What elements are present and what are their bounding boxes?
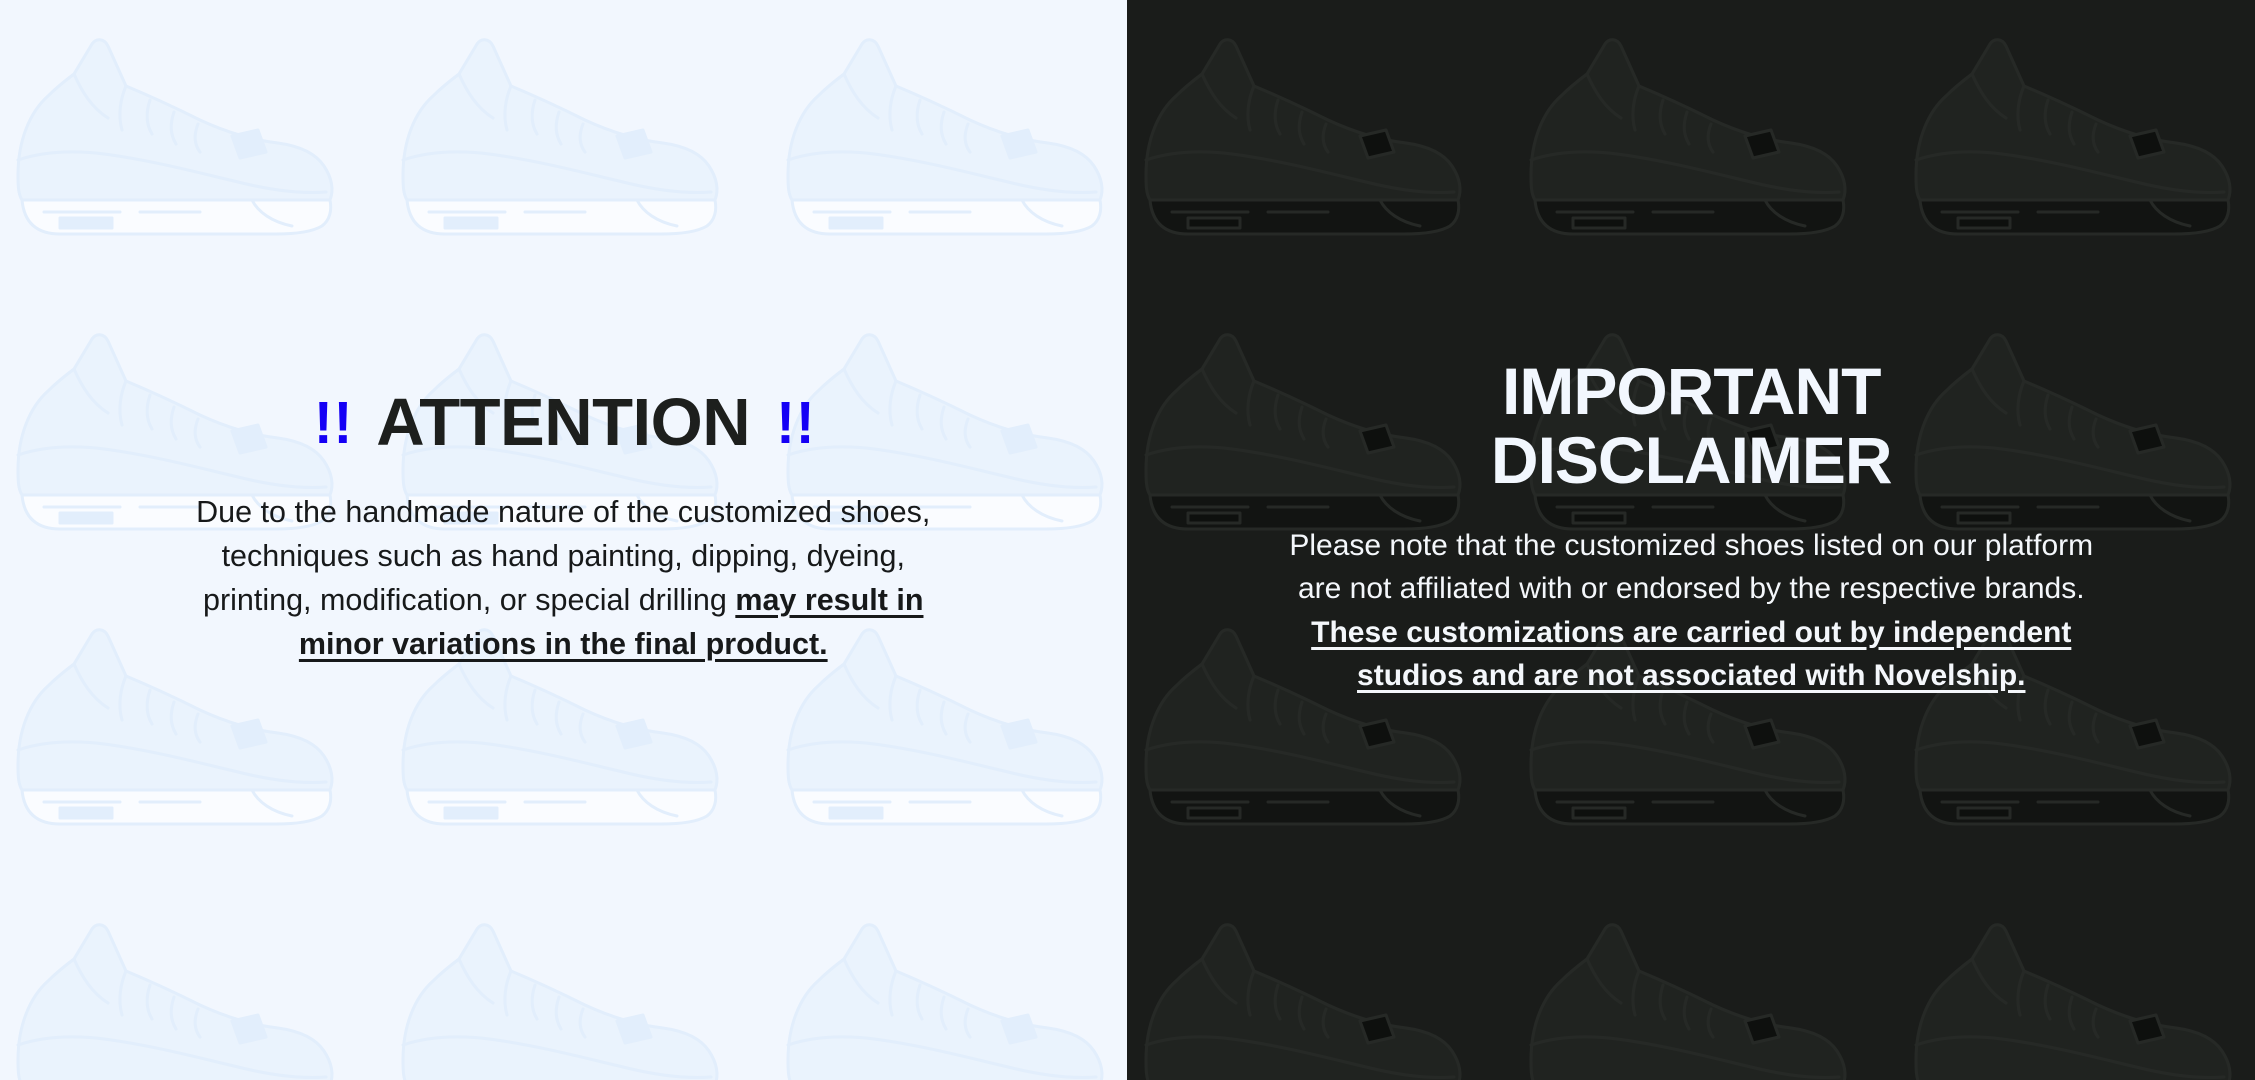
attention-headline: !! ATTENTION !! [110,389,1017,457]
attention-headline-text: ATTENTION [376,389,750,457]
attention-body: Due to the handmade nature of the custom… [163,491,963,667]
disclaimer-headline-line-1: IMPORTANT [1502,354,1880,428]
disclaimer-headline: IMPORTANT DISCLAIMER [1238,357,2146,494]
double-exclamation-left-icon: !! [314,395,350,451]
disclaimer-body-emphasis: These customizations are carried out by … [1311,616,2071,692]
double-exclamation-right-icon: !! [776,395,812,451]
disclaimer-body: Please note that the customized shoes li… [1286,524,2096,697]
disclaimer-banner: !! ATTENTION !! Due to the handmade natu… [0,0,2255,1080]
disclaimer-headline-line-2: DISCLAIMER [1491,423,1892,497]
attention-panel: !! ATTENTION !! Due to the handmade natu… [0,0,1127,1080]
disclaimer-content: IMPORTANT DISCLAIMER Please note that th… [1128,357,2255,697]
disclaimer-panel: IMPORTANT DISCLAIMER Please note that th… [1128,0,2255,1080]
attention-content: !! ATTENTION !! Due to the handmade natu… [0,389,1127,667]
disclaimer-body-lead: Please note that the customized shoes li… [1289,529,2093,605]
